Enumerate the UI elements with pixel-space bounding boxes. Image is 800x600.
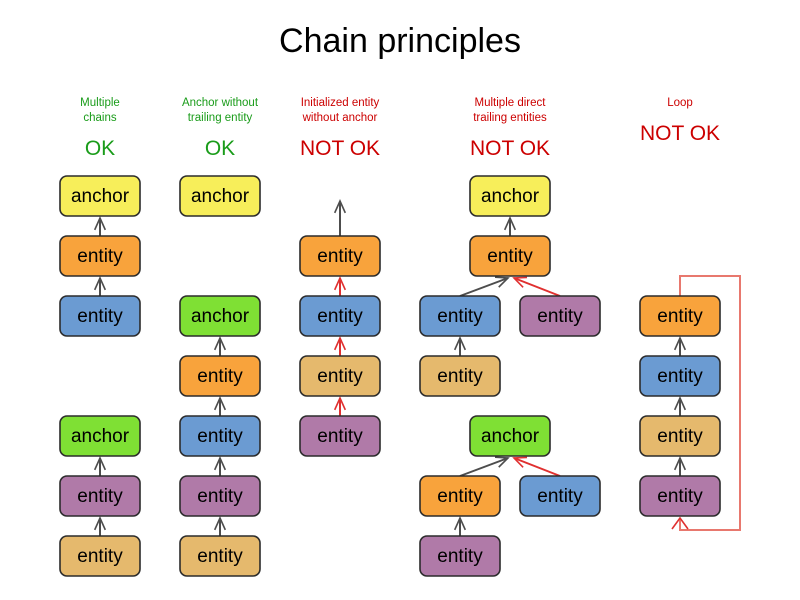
node-label: anchor [191, 306, 250, 327]
node-label: anchor [71, 426, 130, 447]
node-anchor-c4n6[interactable]: anchor [470, 416, 550, 456]
arrow-shaft [514, 458, 560, 476]
node-label: entity [197, 426, 243, 447]
node-label: anchor [481, 426, 540, 447]
nodes-layer: anchorentityentityanchorentityentityanch… [60, 176, 720, 576]
arrow-shaft [460, 278, 508, 296]
chain-diagram: anchorentityentityanchorentityentityanch… [0, 0, 800, 600]
node-label: entity [77, 486, 123, 507]
node-label: entity [197, 486, 243, 507]
edge-e3 [95, 458, 106, 476]
edge-e5 [215, 338, 226, 356]
node-entity-c4n5[interactable]: entity [420, 356, 500, 396]
edge-e17 [460, 457, 508, 476]
node-entity-c5n1[interactable]: entity [640, 296, 720, 336]
node-label: entity [657, 366, 703, 387]
node-entity-c4n7[interactable]: entity [420, 476, 500, 516]
edge-e20 [675, 338, 686, 356]
node-entity-c5n3[interactable]: entity [640, 416, 720, 456]
node-label: entity [487, 246, 533, 267]
edge-e13 [505, 218, 516, 236]
edge-e2 [95, 278, 106, 296]
node-label: entity [77, 306, 123, 327]
node-entity-c2n3[interactable]: entity [180, 356, 260, 396]
node-label: entity [317, 246, 363, 267]
node-label: anchor [191, 186, 250, 207]
node-entity-c1n2[interactable]: entity [60, 236, 140, 276]
node-anchor-c2n1[interactable]: anchor [180, 176, 260, 216]
node-label: entity [197, 366, 243, 387]
edge-e15 [514, 277, 560, 296]
node-entity-c1n6[interactable]: entity [60, 536, 140, 576]
node-entity-c4n2[interactable]: entity [470, 236, 550, 276]
diagram-canvas: Chain principles MultiplechainsOKAnchor … [0, 0, 800, 600]
node-label: entity [437, 486, 483, 507]
node-label: entity [317, 306, 363, 327]
node-entity-c1n3[interactable]: entity [60, 296, 140, 336]
node-label: entity [77, 246, 123, 267]
node-label: entity [197, 546, 243, 567]
edge-e22 [675, 458, 686, 476]
edge-e21 [675, 398, 686, 416]
node-anchor-c4n1[interactable]: anchor [470, 176, 550, 216]
node-label: entity [537, 486, 583, 507]
node-entity-c2n6[interactable]: entity [180, 536, 260, 576]
node-anchor-c1n1[interactable]: anchor [60, 176, 140, 216]
node-entity-c4n8[interactable]: entity [520, 476, 600, 516]
node-entity-c3n3[interactable]: entity [300, 356, 380, 396]
node-entity-c4n3[interactable]: entity [420, 296, 500, 336]
arrow-shaft [460, 458, 508, 476]
edge-e6 [215, 398, 226, 416]
edge-e8 [215, 518, 226, 536]
node-entity-c3n1[interactable]: entity [300, 236, 380, 276]
node-label: anchor [481, 186, 540, 207]
edge-e9 [335, 201, 346, 236]
edge-e12 [335, 398, 346, 416]
node-anchor-c2n2[interactable]: anchor [180, 296, 260, 336]
node-entity-c4n4[interactable]: entity [520, 296, 600, 336]
edge-e16 [455, 338, 466, 356]
node-label: anchor [71, 186, 130, 207]
node-entity-c5n2[interactable]: entity [640, 356, 720, 396]
edge-e19 [455, 518, 466, 536]
edge-e1 [95, 218, 106, 236]
node-entity-c3n2[interactable]: entity [300, 296, 380, 336]
node-label: entity [77, 546, 123, 567]
node-label: entity [537, 306, 583, 327]
node-label: entity [317, 426, 363, 447]
node-anchor-c1n4[interactable]: anchor [60, 416, 140, 456]
node-label: entity [657, 426, 703, 447]
arrow-shaft [514, 278, 560, 296]
node-label: entity [657, 306, 703, 327]
edge-e14 [460, 277, 508, 296]
node-entity-c1n5[interactable]: entity [60, 476, 140, 516]
edge-e7 [215, 458, 226, 476]
node-entity-c2n4[interactable]: entity [180, 416, 260, 456]
node-label: entity [317, 366, 363, 387]
edge-e18 [514, 457, 560, 476]
node-label: entity [437, 366, 483, 387]
edge-e11 [335, 338, 346, 356]
node-entity-c4n9[interactable]: entity [420, 536, 500, 576]
edge-e10 [335, 278, 346, 296]
node-entity-c2n5[interactable]: entity [180, 476, 260, 516]
node-entity-c3n4[interactable]: entity [300, 416, 380, 456]
node-label: entity [657, 486, 703, 507]
node-entity-c5n4[interactable]: entity [640, 476, 720, 516]
node-label: entity [437, 546, 483, 567]
edge-e4 [95, 518, 106, 536]
node-label: entity [437, 306, 483, 327]
